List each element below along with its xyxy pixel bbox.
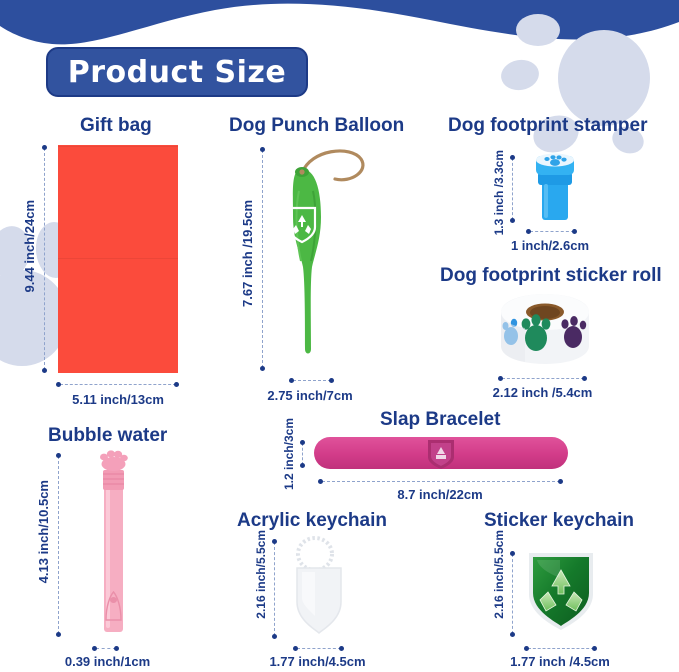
dim-dot (174, 382, 179, 387)
product-title-dog-punch-balloon: Dog Punch Balloon (229, 115, 404, 137)
acrylic-width-label: 1.77 inch/4.5cm (240, 654, 395, 669)
dim-dot (582, 376, 587, 381)
dim-dot (114, 646, 119, 651)
sticker-keychain-width-label: 1.77 inch /4.5cm (480, 654, 640, 669)
dim-dot (300, 463, 305, 468)
sticker-keychain-height-guide (512, 554, 513, 634)
dim-dot (572, 229, 577, 234)
stamper-width-guide (530, 231, 574, 232)
dim-dot (42, 145, 47, 150)
product-title-sticker-keychain: Sticker keychain (484, 510, 634, 532)
paw-cap-icon (100, 450, 128, 471)
wand-bottom-paw (110, 597, 117, 603)
bracelet-width-guide (322, 481, 560, 482)
dim-dot (56, 632, 61, 637)
sticker-keychain-width-guide (528, 648, 594, 649)
stamper-height-guide (512, 158, 513, 220)
bubble-water-height-guide (58, 456, 59, 634)
page-title: Product Size (68, 55, 287, 90)
dim-dot (289, 378, 294, 383)
dim-dot (498, 376, 503, 381)
bubble-water-width-guide (96, 648, 116, 649)
gift-bag-width-guide (60, 384, 176, 385)
bracelet-height-label: 1.2 inch/3cm (282, 418, 296, 490)
product-title-dog-footprint-sticker-roll: Dog footprint sticker roll (440, 265, 662, 287)
dim-dot (510, 632, 515, 637)
dim-dot (42, 368, 47, 373)
dog-footprint-stamper-image (524, 152, 586, 224)
ball-chain-loop (298, 538, 332, 570)
dim-dot (318, 479, 323, 484)
dim-dot (339, 646, 344, 651)
dim-dot (526, 229, 531, 234)
product-title-acrylic-keychain: Acrylic keychain (237, 510, 387, 532)
dim-dot (56, 382, 61, 387)
balloon-width-guide (293, 380, 331, 381)
dim-dot (272, 539, 277, 544)
bracelet-height-guide (302, 443, 303, 465)
dim-dot (592, 646, 597, 651)
dim-dot (510, 155, 515, 160)
balloon-height-guide (262, 150, 263, 368)
product-size-infographic: Product Size Gift bag 9.44 inch/24cm 5.1… (0, 0, 679, 672)
header-wave-shape (0, 0, 679, 44)
slap-bracelet-badge-icon (425, 437, 457, 471)
bubble-water-image (88, 450, 138, 636)
stamper-height-label: 1.3 inch /3.3cm (492, 150, 506, 235)
dim-dot (260, 366, 265, 371)
stamper-width-label: 1 inch/2.6cm (485, 238, 615, 253)
dim-dot (510, 551, 515, 556)
gift-bag-width-label: 5.11 inch/13cm (34, 392, 202, 407)
dim-dot (510, 218, 515, 223)
dim-dot (524, 646, 529, 651)
bubble-water-height-label: 4.13 inch/10.5cm (36, 480, 51, 583)
dim-dot (260, 147, 265, 152)
acrylic-keychain-image (285, 536, 365, 638)
bracelet-width-label: 8.7 inch/22cm (360, 487, 520, 502)
sticker-keychain-height-label: 2.16 inch/5.5cm (492, 530, 506, 619)
stamper-highlight (544, 184, 548, 218)
dim-dot (329, 378, 334, 383)
product-title-dog-footprint-stamper: Dog footprint stamper (448, 115, 648, 137)
dog-punch-balloon-image (255, 143, 385, 373)
sticker-keychain-image (524, 548, 598, 634)
gift-bag-height-label: 9.44 inch/24cm (22, 200, 37, 293)
bubble-water-width-label: 0.39 inch/1cm (30, 654, 185, 669)
wand-grip (103, 470, 124, 490)
balloon-hole (299, 169, 304, 174)
dim-dot (300, 440, 305, 445)
dim-dot (272, 634, 277, 639)
product-title-bubble-water: Bubble water (48, 425, 167, 447)
sticker-roll-image (495, 292, 595, 368)
balloon-height-label: 7.67 inch /19.5cm (240, 200, 255, 307)
dim-dot (92, 646, 97, 651)
dim-dot (558, 479, 563, 484)
page-title-badge: Product Size (46, 47, 308, 97)
sticker-roll-width-guide (502, 378, 584, 379)
gift-bag-height-guide (44, 148, 45, 370)
acrylic-width-guide (297, 648, 341, 649)
product-title-slap-bracelet: Slap Bracelet (380, 409, 500, 431)
acrylic-height-label: 2.16 inch/5.5cm (254, 530, 268, 619)
dim-dot (293, 646, 298, 651)
product-title-gift-bag: Gift bag (80, 115, 152, 137)
dim-dot (56, 453, 61, 458)
sticker-roll-width-label: 2.12 inch /5.4cm (465, 385, 620, 400)
gift-bag-image (58, 145, 178, 373)
acrylic-height-guide (274, 542, 275, 636)
balloon-width-label: 2.75 inch/7cm (245, 388, 375, 403)
